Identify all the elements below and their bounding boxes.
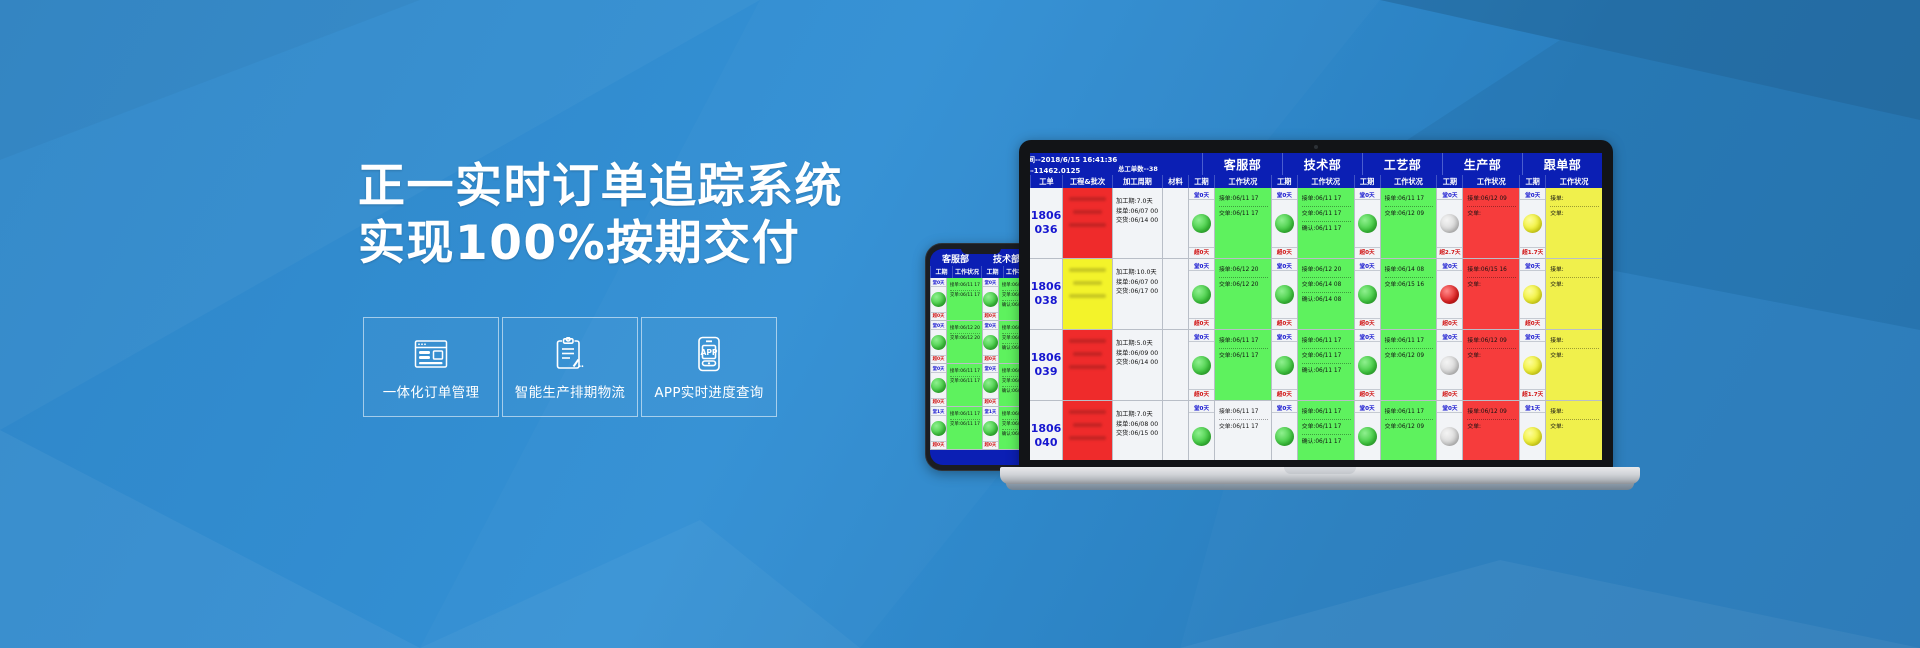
status-line: 接单:06/11 17 [1219,194,1268,207]
status-line: 接单:06/12 20 [1219,265,1268,278]
status-indicator-green [931,335,946,350]
erp-col-duration-2: 工期 [1354,175,1380,188]
status-line: 交单:06/11 17 [1219,209,1268,221]
phone-work-status-cell: 接单:06/11 17交单:06/11 17 [946,278,982,320]
erp-duration-生产部: 堂0天超0天 [1436,330,1462,400]
overdue-days-badge: 超0天 [1355,247,1380,256]
balance-days-badge: 堂0天 [1272,262,1297,271]
status-line: 接单: [1550,194,1599,207]
feature-label: APP实时进度查询 [654,381,763,401]
balance-days-badge: 堂0天 [1189,333,1214,342]
erp-material [1162,401,1188,460]
balance-days-badge: 堂0天 [1437,262,1462,271]
phone-duration-cell: 堂0天超0天 [982,278,998,320]
balance-days-badge: 堂0天 [1355,404,1380,413]
status-line: 交单: [1467,209,1516,221]
overdue-days-badge: 超1.7天 [1520,389,1545,398]
redacted-text [1073,281,1102,285]
phone-duration-cell: 堂0天超0天 [982,321,998,363]
balance-days-badge: 堂1天 [1520,404,1545,413]
status-indicator-green [1192,285,1211,304]
erp-duration-生产部: 堂0天超0天 [1436,401,1462,460]
balance-days-badge: 堂0天 [1189,262,1214,271]
erp-duration-客服部: 堂0天超0天 [1188,259,1214,329]
overdue-days-badge: 超0天 [1189,318,1214,327]
overdue-days-badge: 超0天 [931,398,946,405]
erp-work-status-生产部: 接单:06/12 09交单: [1462,330,1519,400]
status-line: 交单:06/11 17 [1302,422,1351,435]
erp-work-status-工艺部: 接单:06/11 17交单:06/12 09 [1380,188,1437,258]
status-line: 接单:06/12 20 [950,325,980,334]
erp-order-number: 1806039 [1030,330,1062,400]
erp-project-batch [1062,401,1112,460]
status-line: 接单:06/11 17 [1219,407,1268,420]
erp-work-status-跟单部: 接单:交单: [1545,330,1602,400]
redacted-text [1069,365,1105,369]
redacted-text [1069,410,1105,414]
status-line: 接单: [1550,265,1599,278]
status-line: 交单: [1467,351,1516,363]
overdue-days-badge: 超0天 [1437,389,1462,398]
status-line: 交单:06/12 09 [1385,422,1434,434]
erp-dept-process: 工艺部 [1362,153,1442,175]
erp-duration-跟单部: 堂1天超0.7天 [1519,401,1545,460]
erp-duration-技术部: 堂0天超0天 [1271,188,1297,258]
status-indicator-green [1275,214,1294,233]
erp-col-2: 加工周期 [1112,175,1162,188]
erp-col-3: 材料 [1162,175,1188,188]
erp-work-status-技术部: 接单:06/11 17交单:06/11 17确认:06/11 17 [1297,188,1354,258]
mobile-app-icon: APP [696,334,722,374]
erp-col-status-3: 工作状况 [1462,175,1519,188]
cycle-line: 接单:06/07 00 [1116,278,1160,288]
promo-banner: 正一实时订单追踪系统 实现100%按期交付 一体化订单管理 [0,0,1920,648]
erp-work-status-技术部: 接单:06/11 17交单:06/11 17确认:06/11 17 [1297,330,1354,400]
erp-work-status-技术部: 接单:06/11 17交单:06/11 17确认:06/11 17 [1297,401,1354,460]
erp-work-status-客服部: 接单:06/11 17交单:06/11 17 [1214,188,1271,258]
status-line: 接单: [1550,407,1599,420]
erp-duration-工艺部: 堂0天超0天 [1354,188,1380,258]
erp-table-row[interactable]: 1806036加工期:7.0天接单:06/07 00交货:06/14 00堂0天… [1030,188,1602,259]
balance-days-badge: 堂0天 [1272,404,1297,413]
status-line: 接单:06/11 17 [1385,194,1434,207]
status-indicator-green [1358,356,1377,375]
status-line: 交单:06/11 17 [1302,209,1351,222]
erp-duration-技术部: 堂0天超0天 [1271,401,1297,460]
erp-time-label: 时间--2018/6/15 16:41:36 [1030,155,1202,165]
erp-dept-technical: 技术部 [1282,153,1362,175]
overdue-days-badge: 超0天 [1272,247,1297,256]
phone-work-status-cell: 接单:06/11 17交单:06/11 17 [946,407,982,449]
redacted-text [1073,210,1102,214]
cycle-line: 交货:06/15 00 [1116,429,1160,439]
erp-col-duration-0: 工期 [1188,175,1214,188]
erp-work-status-工艺部: 接单:06/14 08交单:06/15 16 [1380,259,1437,329]
status-line: 交单: [1550,351,1599,363]
status-indicator-green [983,292,998,307]
erp-duration-工艺部: 堂0天超0天 [1354,330,1380,400]
balance-days-badge: 堂0天 [983,280,998,287]
status-indicator-green [1192,214,1211,233]
feature-item-order-management[interactable]: 一体化订单管理 [363,317,499,417]
status-line: 接单: [1550,336,1599,349]
app-icon-text: APP [700,348,717,357]
erp-duration-跟单部: 堂0天超1.7天 [1519,188,1545,258]
status-line: 接单:06/12 20 [1302,265,1351,278]
erp-work-status-工艺部: 接单:06/11 17交单:06/12 09 [1380,401,1437,460]
status-line: 接单:06/11 17 [950,282,980,291]
erp-order-tracking-table[interactable]: 时间--2018/6/15 16:41:36 数--11462.0125 总工单… [1030,153,1602,460]
balance-days-badge: 堂0天 [1437,404,1462,413]
status-indicator-green [1192,427,1211,446]
erp-meta-block: 时间--2018/6/15 16:41:36 数--11462.0125 总工单… [1030,153,1202,175]
status-line: 接单:06/14 08 [1385,265,1434,278]
clipboard-checklist-icon [555,334,585,374]
erp-col-status-0: 工作状况 [1214,175,1271,188]
status-indicator-green [983,421,998,436]
phone-col-status: 工作状况 [952,266,981,278]
status-indicator-green [931,421,946,436]
status-line: 交单:06/15 16 [1385,280,1434,292]
status-indicator-green [983,335,998,350]
erp-table-row[interactable]: 1806040加工期:7.0天接单:06/08 00交货:06/15 00堂0天… [1030,401,1602,460]
status-line: 交单:06/11 17 [1219,422,1268,434]
cycle-line: 加工期:5.0天 [1116,339,1160,349]
erp-work-status-跟单部: 接单:交单: [1545,188,1602,258]
balance-days-badge: 堂0天 [1189,191,1214,200]
erp-work-status-客服部: 接单:06/12 20交单:06/12 20 [1214,259,1271,329]
feature-label: 一体化订单管理 [383,381,480,401]
overdue-days-badge: 超0天 [983,355,998,362]
phone-notch [961,248,1001,254]
cycle-line: 接单:06/07 00 [1116,207,1160,217]
overdue-days-badge: 超0天 [1272,318,1297,327]
status-indicator-green [1358,427,1377,446]
erp-work-status-生产部: 接单:06/15 16交单: [1462,259,1519,329]
erp-header-band: 时间--2018/6/15 16:41:36 数--11462.0125 总工单… [1030,153,1602,175]
laptop-mockup: 时间--2018/6/15 16:41:36 数--11462.0125 总工单… [1000,140,1640,520]
cycle-line: 交货:06/17 00 [1116,287,1160,297]
overdue-days-badge: 超2.7天 [1437,247,1462,256]
status-line: 交单:06/12 20 [1219,280,1268,292]
erp-processing-cycle: 加工期:10.0天接单:06/07 00交货:06/17 00 [1112,259,1162,329]
balance-days-badge: 堂0天 [931,323,946,330]
erp-order-number: 1806038 [1030,259,1062,329]
redacted-text [1069,268,1105,272]
erp-col-1: 工程&批次 [1062,175,1112,188]
balance-days-badge: 堂0天 [931,366,946,373]
laptop-lid: 时间--2018/6/15 16:41:36 数--11462.0125 总工单… [1019,140,1613,470]
status-line: 确认:06/14 08 [1302,295,1351,307]
phone-duration-cell: 堂1天超0天 [982,407,998,449]
status-line: 接单:06/15 16 [1467,265,1516,278]
status-line: 接单:06/11 17 [1302,194,1351,207]
balance-days-badge: 堂0天 [1272,333,1297,342]
phone-duration-cell: 堂1天超0天 [930,407,946,449]
phone-work-status-cell: 接单:06/11 17交单:06/11 17 [946,364,982,406]
balance-days-badge: 堂0天 [983,323,998,330]
balance-days-badge: 堂0天 [931,280,946,287]
erp-duration-客服部: 堂0天超0天 [1188,401,1214,460]
balance-days-badge: 堂0天 [1437,333,1462,342]
erp-order-number: 1806040 [1030,401,1062,460]
cycle-line: 加工期:7.0天 [1116,410,1160,420]
erp-duration-跟单部: 堂0天超1.7天 [1519,330,1545,400]
erp-duration-工艺部: 堂0天超0天 [1354,259,1380,329]
overdue-days-badge: 超0天 [983,398,998,405]
erp-amount-label: 数--11462.0125 [1030,166,1202,176]
status-line: 交单:06/11 17 [950,378,980,386]
status-line: 交单: [1467,422,1516,434]
status-line: 接单:06/11 17 [1385,407,1434,420]
cycle-line: 交货:06/14 00 [1116,358,1160,368]
status-indicator-green [1275,427,1294,446]
balance-days-badge: 堂1天 [983,409,998,416]
cycle-line: 加工期:10.0天 [1116,268,1160,278]
status-line: 交单: [1467,280,1516,292]
status-indicator-yellow [1523,285,1542,304]
redacted-text [1069,223,1105,227]
cycle-line: 加工期:7.0天 [1116,197,1160,207]
headline-line-1: 正一实时订单追踪系统 [358,158,918,215]
erp-duration-生产部: 堂0天超2.7天 [1436,188,1462,258]
balance-days-badge: 堂0天 [1437,191,1462,200]
erp-work-status-技术部: 接单:06/12 20交单:06/14 08确认:06/14 08 [1297,259,1354,329]
status-indicator-gray [1440,427,1459,446]
erp-table-row[interactable]: 1806038加工期:10.0天接单:06/07 00交货:06/17 00堂0… [1030,259,1602,330]
status-line: 接单:06/11 17 [1302,336,1351,349]
erp-project-batch [1062,330,1112,400]
erp-work-status-生产部: 接单:06/12 09交单: [1462,401,1519,460]
balance-days-badge: 堂0天 [1355,191,1380,200]
overdue-days-badge: 超0天 [983,312,998,319]
status-indicator-green [1358,214,1377,233]
balance-days-badge: 堂0天 [983,366,998,373]
erp-duration-跟单部: 堂0天超0天 [1519,259,1545,329]
erp-column-header-row: 工单工程&批次加工周期材料工期工作状况工期工作状况工期工作状况工期工作状况工期工… [1030,175,1602,188]
balance-days-badge: 堂0天 [1189,404,1214,413]
erp-processing-cycle: 加工期:7.0天接单:06/08 00交货:06/15 00 [1112,401,1162,460]
erp-col-0: 工单 [1030,175,1062,188]
erp-duration-生产部: 堂0天超0天 [1436,259,1462,329]
feature-item-smart-scheduling[interactable]: 智能生产排期物流 [502,317,638,417]
status-line: 交单:06/14 08 [1302,280,1351,293]
status-line: 接单:06/12 09 [1467,336,1516,349]
erp-processing-cycle: 加工期:5.0天接单:06/09 00交货:06/14 00 [1112,330,1162,400]
erp-total-orders-label: 总工单数--38 [1118,164,1158,173]
status-line: 交单:06/11 17 [950,292,980,300]
cycle-line: 接单:06/08 00 [1116,420,1160,430]
erp-duration-工艺部: 堂0天超0天 [1354,401,1380,460]
status-line: 接单:06/11 17 [950,411,980,420]
redacted-text [1069,436,1105,440]
status-line: 接单:06/11 17 [1219,336,1268,349]
cycle-line: 接单:06/09 00 [1116,349,1160,359]
overdue-days-badge: 超0天 [1189,389,1214,398]
status-indicator-yellow [1523,356,1542,375]
status-indicator-green [1192,356,1211,375]
erp-col-status-1: 工作状况 [1297,175,1354,188]
erp-project-batch [1062,188,1112,258]
overdue-days-badge: 超0天 [1520,318,1545,327]
status-line: 交单: [1550,280,1599,292]
erp-duration-客服部: 堂0天超0天 [1188,188,1214,258]
status-line: 确认:06/11 17 [1302,366,1351,378]
balance-days-badge: 堂0天 [1272,191,1297,200]
erp-project-batch [1062,259,1112,329]
status-line: 交单: [1550,422,1599,434]
erp-work-status-跟单部: 接单:交单: [1545,401,1602,460]
erp-duration-技术部: 堂0天超0天 [1271,330,1297,400]
status-line: 交单:06/12 09 [1385,209,1434,221]
erp-col-status-4: 工作状况 [1545,175,1602,188]
dashboard-window-icon [414,334,448,374]
overdue-days-badge: 超0天 [931,312,946,319]
status-indicator-green [983,378,998,393]
headline-line-2: 实现100%按期交付 [358,215,918,272]
redacted-text [1069,197,1105,201]
status-indicator-red [1440,285,1459,304]
overdue-days-badge: 超0天 [931,355,946,362]
erp-processing-cycle: 加工期:7.0天接单:06/07 00交货:06/14 00 [1112,188,1162,258]
status-indicator-gray [1440,356,1459,375]
redacted-text [1073,352,1102,356]
status-line: 交单:06/11 17 [950,421,980,429]
overdue-days-badge: 超0天 [1355,389,1380,398]
overdue-days-badge: 超0天 [1272,389,1297,398]
feature-item-app-progress-query[interactable]: APP APP实时进度查询 [641,317,777,417]
status-line: 接单:06/12 09 [1467,407,1516,420]
erp-table-body: 1806036加工期:7.0天接单:06/07 00交货:06/14 00堂0天… [1030,188,1602,460]
status-line: 接单:06/12 09 [1467,194,1516,207]
erp-dept-production: 生产部 [1442,153,1522,175]
phone-duration-cell: 堂0天超0天 [930,278,946,320]
erp-material [1162,330,1188,400]
erp-work-status-工艺部: 接单:06/11 17交单:06/12 09 [1380,330,1437,400]
status-line: 交单:06/11 17 [1219,351,1268,363]
redacted-text [1069,294,1105,298]
phone-duration-cell: 堂0天超0天 [982,364,998,406]
erp-dept-merchandising: 跟单部 [1522,153,1602,175]
redacted-text [1073,423,1102,427]
erp-order-number: 1806036 [1030,188,1062,258]
status-indicator-green [931,292,946,307]
phone-duration-cell: 堂0天超0天 [930,364,946,406]
erp-col-duration-4: 工期 [1519,175,1545,188]
overdue-days-badge: 超0天 [931,441,946,448]
balance-days-badge: 堂0天 [1355,333,1380,342]
erp-material [1162,259,1188,329]
status-indicator-green [1358,285,1377,304]
erp-work-status-客服部: 接单:06/11 17交单:06/11 17 [1214,330,1271,400]
erp-work-status-客服部: 接单:06/11 17交单:06/11 17 [1214,401,1271,460]
laptop-screen[interactable]: 时间--2018/6/15 16:41:36 数--11462.0125 总工单… [1030,153,1602,460]
webcam-icon [1314,145,1318,149]
status-line: 交单:06/11 17 [1302,351,1351,364]
erp-dept-customer-service: 客服部 [1202,153,1282,175]
status-indicator-green [931,378,946,393]
phone-col-duration: 工期 [930,266,952,278]
erp-duration-客服部: 堂0天超0天 [1188,330,1214,400]
erp-col-duration-1: 工期 [1271,175,1297,188]
redacted-text [1069,339,1105,343]
status-indicator-green [1275,285,1294,304]
balance-days-badge: 堂1天 [931,409,946,416]
phone-duration-cell: 堂0天超0天 [930,321,946,363]
balance-days-badge: 堂0天 [1520,333,1545,342]
balance-days-badge: 堂0天 [1355,262,1380,271]
erp-work-status-生产部: 接单:06/12 09交单: [1462,188,1519,258]
status-line: 交单: [1550,209,1599,221]
status-line: 接单:06/11 17 [1302,407,1351,420]
erp-col-duration-3: 工期 [1436,175,1462,188]
overdue-days-badge: 超0天 [983,441,998,448]
cycle-line: 交货:06/14 00 [1116,216,1160,226]
overdue-days-badge: 超1.7天 [1520,247,1545,256]
status-line: 交单:06/12 20 [950,335,980,343]
balance-days-badge: 堂0天 [1520,262,1545,271]
status-line: 接单:06/11 17 [1385,336,1434,349]
feature-label: 智能生产排期物流 [515,381,625,401]
status-indicator-gray [1440,214,1459,233]
erp-col-status-2: 工作状况 [1380,175,1437,188]
status-line: 确认:06/11 17 [1302,437,1351,449]
overdue-days-badge: 超0天 [1189,247,1214,256]
status-indicator-yellow [1523,214,1542,233]
erp-work-status-跟单部: 接单:交单: [1545,259,1602,329]
phone-work-status-cell: 接单:06/12 20交单:06/12 20 [946,321,982,363]
status-line: 确认:06/11 17 [1302,224,1351,236]
headline-block: 正一实时订单追踪系统 实现100%按期交付 [358,158,918,272]
overdue-days-badge: 超0天 [1437,318,1462,327]
laptop-base [1000,467,1640,484]
status-indicator-yellow [1523,427,1542,446]
status-line: 接单:06/11 17 [950,368,980,377]
status-line: 交单:06/12 09 [1385,351,1434,363]
feature-list: 一体化订单管理 智能生产排期物流 [363,317,777,417]
status-indicator-green [1275,356,1294,375]
erp-table-row[interactable]: 1806039加工期:5.0天接单:06/09 00交货:06/14 00堂0天… [1030,330,1602,401]
erp-material [1162,188,1188,258]
overdue-days-badge: 超0天 [1355,318,1380,327]
erp-duration-技术部: 堂0天超0天 [1271,259,1297,329]
balance-days-badge: 堂0天 [1520,191,1545,200]
